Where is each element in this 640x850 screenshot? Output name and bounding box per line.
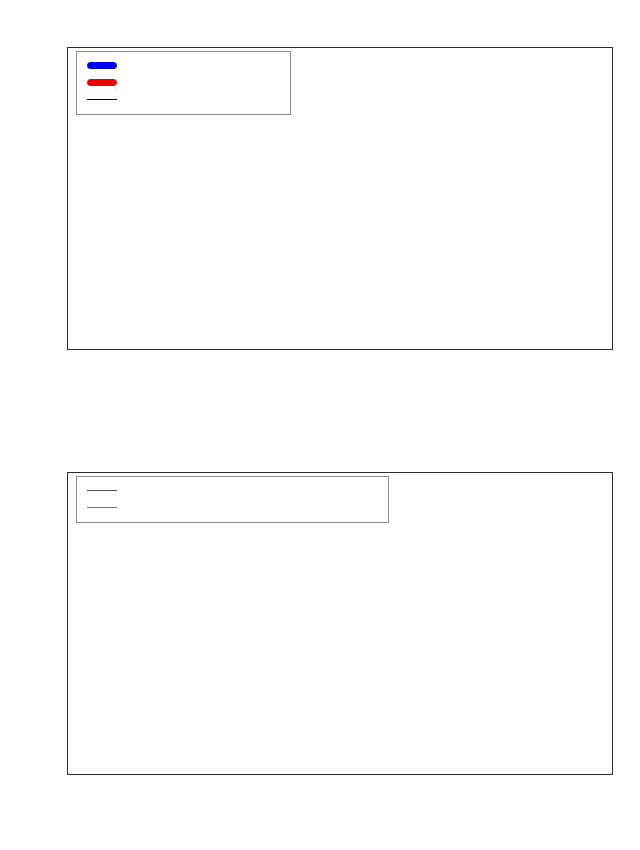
observed-rain-line-swatch-icon [85, 482, 119, 499]
legend-item-anomalias-positivas [85, 57, 281, 74]
top-chart-legend [76, 51, 291, 115]
positive-anomaly-swatch-icon [85, 57, 119, 74]
top-chart-panel [0, 0, 640, 425]
climatology-line-swatch-icon [85, 91, 119, 108]
daily-climatology-line-swatch-icon [85, 499, 119, 516]
legend-item-anomalias-negativas [85, 74, 281, 91]
legend-item-chuva-observada [85, 482, 379, 499]
legend-item-climatologia-acumulada [85, 91, 281, 108]
negative-anomaly-swatch-icon [85, 74, 119, 91]
bottom-chart-legend [76, 476, 389, 523]
bottom-chart-panel [0, 425, 640, 850]
legend-item-climatologia-diaria [85, 499, 379, 516]
figure-root [0, 0, 640, 850]
